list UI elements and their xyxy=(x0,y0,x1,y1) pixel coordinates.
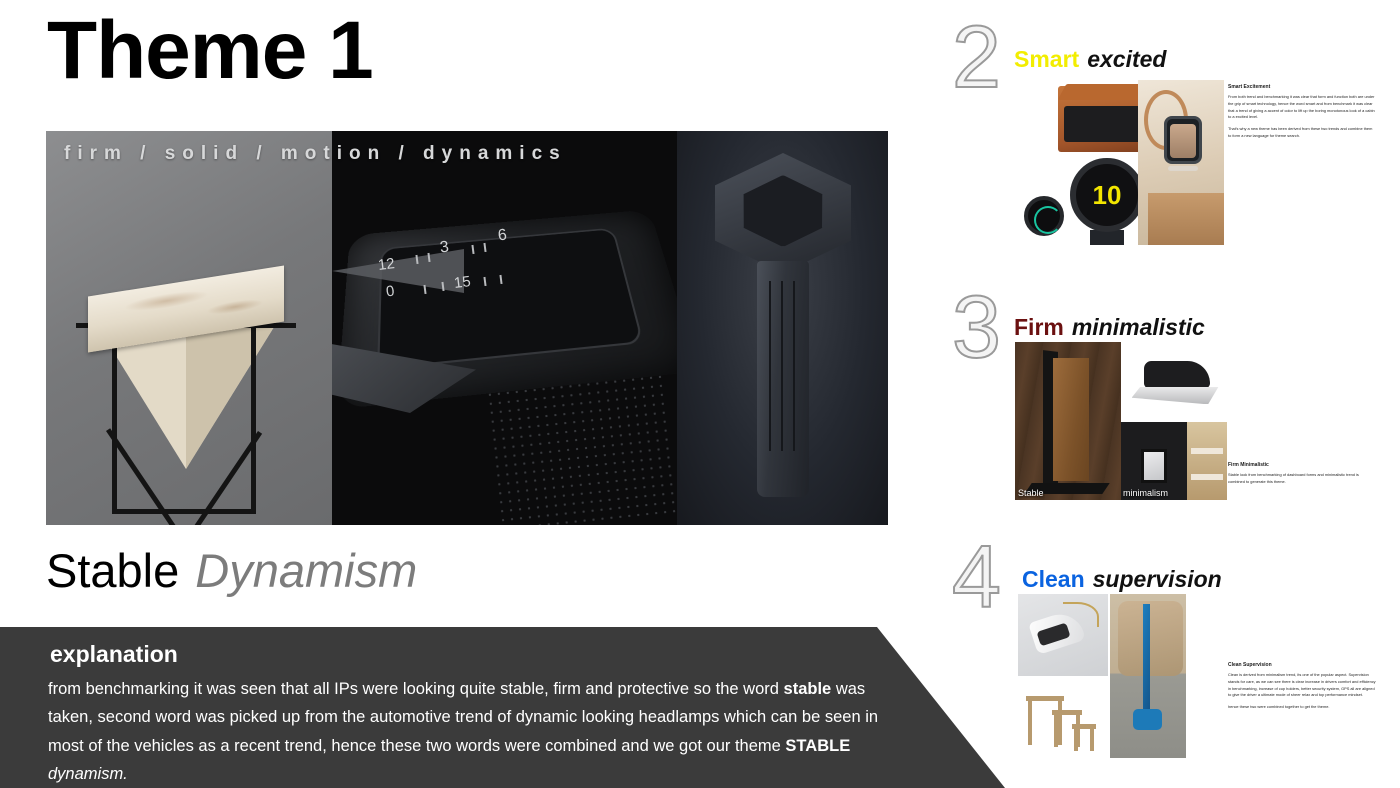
table-leg-left xyxy=(112,323,117,513)
panel3-label-stable: Stable xyxy=(1018,488,1044,498)
panel4-image-handheld-vacuum[interactable] xyxy=(1018,594,1108,676)
panel-heading-4: Cleansupervision xyxy=(1022,566,1222,593)
smartwatch-small xyxy=(1024,196,1064,236)
explanation-line-4: we got our theme xyxy=(653,737,785,755)
hero-image-dashboard-clock: 12 3 6 0 15 xyxy=(332,131,677,525)
panel2-description-p2: That's why a new theme has been derived … xyxy=(1228,126,1376,140)
face-reflection xyxy=(1170,124,1196,158)
explanation-heading: explanation xyxy=(50,641,178,668)
clothes-iron-soleplate xyxy=(1132,387,1219,405)
panel3-label-minimalism: minimalism xyxy=(1123,488,1168,498)
panel-heading-2: Smartexcited xyxy=(1014,46,1166,73)
minimal-cube xyxy=(1141,449,1167,483)
theme-word-primary: Stable xyxy=(46,544,179,597)
hero-caption: firm / solid / motion / dynamics xyxy=(64,143,567,165)
smartwatch-face: 10 xyxy=(1070,158,1138,232)
panel4-description: Clean Supervision Clean is derived from … xyxy=(1228,662,1378,716)
shelf-board xyxy=(1191,474,1223,480)
panel3-description-title: Firm Minimalistic xyxy=(1228,462,1376,468)
panel2-description-p1: From both trend and benchmarking it was … xyxy=(1228,94,1376,121)
clock-tick-15: 15 xyxy=(453,273,472,292)
panel4-description-p2: hence these two were combined together t… xyxy=(1228,704,1378,711)
sofa xyxy=(1118,601,1183,676)
speaker-lid xyxy=(1058,84,1138,100)
smartwatch-band xyxy=(1090,230,1124,245)
panel-smart-excited[interactable]: 2 Smartexcited 10 070809 Smart Excitemen… xyxy=(952,22,1392,262)
theme-word-secondary: Dynamism xyxy=(195,544,417,597)
theme-phrase: StableDynamism xyxy=(46,543,417,598)
panel3-image-kitchen[interactable] xyxy=(1187,422,1227,500)
explanation-body: from benchmarking it was seen that all I… xyxy=(48,675,888,788)
panel-keyword-firm: Firm xyxy=(1014,314,1064,340)
panel4-image-stick-vacuum[interactable] xyxy=(1110,594,1186,758)
stick-vacuum-pole xyxy=(1143,604,1150,712)
panel3-description-p1: Stable look from benchmarking of dashboa… xyxy=(1228,472,1376,486)
tool-groove xyxy=(781,281,783,451)
panel-qualifier-minimalistic: minimalistic xyxy=(1072,314,1205,340)
clothes-iron-body xyxy=(1144,361,1210,388)
nesting-table-leg xyxy=(1074,729,1078,751)
panel-firm-minimalistic[interactable]: 3 Firmminimalistic Stable minimalism Fir… xyxy=(952,292,1392,522)
panel-clean-supervision[interactable]: 4 Cleansupervision C xyxy=(952,542,1392,772)
panel3-image-iron[interactable] xyxy=(1121,342,1227,422)
nesting-table-leg xyxy=(1058,701,1062,745)
table-leg-right xyxy=(251,323,256,513)
tool-groove xyxy=(793,281,795,451)
panel-number-4: 4 xyxy=(952,542,1001,612)
explanation-line-1: from benchmarking it was seen that all I… xyxy=(48,680,779,698)
shelf-board xyxy=(1191,448,1223,454)
hero-image-marble-table xyxy=(46,131,332,525)
page-title: Theme 1 xyxy=(47,8,373,94)
explanation-bold-stable: stable xyxy=(784,680,832,698)
panel2-description: Smart Excitement From both trend and ben… xyxy=(1228,84,1376,145)
explanation-bold-stable-caps: STABLE xyxy=(785,737,850,755)
panel-keyword-smart: Smart xyxy=(1014,46,1079,72)
explanation-italic-dynamism: dynamism. xyxy=(48,765,128,783)
panel-number-2: 2 xyxy=(952,22,1001,92)
speaker-front-panel xyxy=(1064,106,1138,142)
mirror-stand xyxy=(1168,166,1198,171)
panel-keyword-clean: Clean xyxy=(1022,566,1085,592)
explanation-box: explanation from benchmarking it was see… xyxy=(0,627,1015,788)
panel2-description-title: Smart Excitement xyxy=(1228,84,1376,90)
panel2-image-devices[interactable]: 10 070809 xyxy=(1018,80,1138,245)
panel4-description-p1: Clean is derived from minimalism trend, … xyxy=(1228,672,1378,699)
table-rail-bottom xyxy=(112,509,256,514)
tool-shaft xyxy=(757,261,809,497)
panel4-description-title: Clean Supervision xyxy=(1228,662,1378,668)
clock-tick-6: 6 xyxy=(497,227,508,246)
wood-block xyxy=(1053,358,1089,481)
hero-image-band: 12 3 6 0 15 firm / solid / motion / dyna… xyxy=(46,131,888,525)
kitchen-shelf-bg xyxy=(1187,422,1227,500)
panel2-image-mirror[interactable] xyxy=(1138,80,1224,245)
panel3-image-wood-block[interactable]: Stable xyxy=(1015,342,1121,500)
marble-cone-shade xyxy=(186,327,274,469)
panel4-image-nesting-tables[interactable] xyxy=(1018,682,1108,758)
clock-tick-3: 3 xyxy=(439,239,450,258)
panel-number-3: 3 xyxy=(952,292,1001,362)
tool-groove xyxy=(769,281,771,451)
nesting-table-leg xyxy=(1054,715,1058,747)
wooden-table xyxy=(1148,193,1224,245)
hero-image-tool xyxy=(677,131,888,525)
clock-tick-12: 12 xyxy=(377,255,396,274)
nesting-table-leg xyxy=(1028,701,1032,745)
panel-qualifier-excited: excited xyxy=(1087,46,1166,72)
panel-heading-3: Firmminimalistic xyxy=(1014,314,1205,341)
slide-canvas: Theme 1 12 3 6 0 15 xyxy=(0,0,1400,788)
panel3-image-cube[interactable]: minimalism xyxy=(1121,422,1187,500)
stick-vacuum-head xyxy=(1133,709,1162,730)
panel-qualifier-supervision: supervision xyxy=(1093,566,1222,592)
panel3-description: Firm Minimalistic Stable look from bench… xyxy=(1228,462,1376,491)
nesting-table-leg xyxy=(1090,729,1094,751)
speaker-mesh-texture xyxy=(485,372,677,525)
